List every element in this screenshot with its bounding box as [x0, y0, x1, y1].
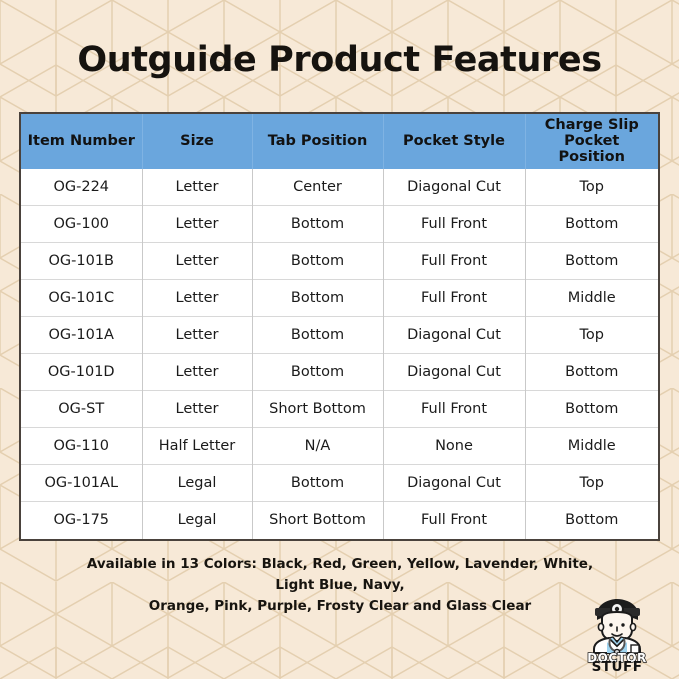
- column-header-line1: Tab Position: [268, 133, 368, 149]
- cell-tab-position: Short Bottom: [252, 502, 383, 539]
- table-row: OG-100 Letter Bottom Full Front Bottom: [21, 206, 658, 243]
- cell-size: Letter: [142, 354, 252, 391]
- cell-charge-slip-pocket-position: Top: [525, 169, 658, 206]
- cell-pocket-style: Full Front: [383, 391, 525, 428]
- table-row: OG-101B Letter Bottom Full Front Bottom: [21, 243, 658, 280]
- cell-tab-position: Short Bottom: [252, 391, 383, 428]
- cell-item-number: OG-101A: [21, 317, 142, 354]
- page-title: Outguide Product Features: [0, 40, 679, 80]
- cell-charge-slip-pocket-position: Bottom: [525, 243, 658, 280]
- colors-note-line-2: Orange, Pink, Purple, Frosty Clear and G…: [70, 596, 610, 617]
- cell-pocket-style: Full Front: [383, 280, 525, 317]
- doctor-stuff-logo: DOCTOR STUFF: [569, 597, 665, 671]
- table-row: OG-101D Letter Bottom Diagonal Cut Botto…: [21, 354, 658, 391]
- cell-item-number: OG-175: [21, 502, 142, 539]
- cell-size: Letter: [142, 169, 252, 206]
- cell-charge-slip-pocket-position: Bottom: [525, 391, 658, 428]
- cell-pocket-style: Full Front: [383, 206, 525, 243]
- cell-charge-slip-pocket-position: Bottom: [525, 206, 658, 243]
- table-row: OG-175 Legal Short Bottom Full Front Bot…: [21, 502, 658, 539]
- cell-pocket-style: Diagonal Cut: [383, 465, 525, 502]
- colors-note-line-1: Available in 13 Colors: Black, Red, Gree…: [70, 554, 610, 596]
- column-header-item-number: Item Number: [21, 114, 142, 169]
- table-row: OG-110 Half Letter N/A None Middle: [21, 428, 658, 465]
- logo-wordmark-bottom: STUFF: [592, 659, 643, 671]
- cell-charge-slip-pocket-position: Bottom: [525, 502, 658, 539]
- cell-tab-position: Bottom: [252, 243, 383, 280]
- cell-charge-slip-pocket-position: Middle: [525, 280, 658, 317]
- column-header-size: Size: [142, 114, 252, 169]
- cell-item-number: OG-101D: [21, 354, 142, 391]
- cell-pocket-style: Full Front: [383, 502, 525, 539]
- cell-size: Letter: [142, 243, 252, 280]
- cell-size: Letter: [142, 391, 252, 428]
- cell-tab-position: Center: [252, 169, 383, 206]
- cell-size: Legal: [142, 465, 252, 502]
- cell-item-number: OG-110: [21, 428, 142, 465]
- column-header-line1: Item Number: [28, 133, 135, 149]
- column-header-line1: Size: [180, 133, 214, 149]
- table-row: OG-ST Letter Short Bottom Full Front Bot…: [21, 391, 658, 428]
- cell-tab-position: Bottom: [252, 280, 383, 317]
- column-header-line1: Charge Slip: [545, 117, 639, 133]
- cell-pocket-style: Diagonal Cut: [383, 354, 525, 391]
- cell-tab-position: N/A: [252, 428, 383, 465]
- table-header: Item Number Size Tab Position Pocket Sty…: [21, 114, 658, 169]
- column-header-line2: Pocket Position: [559, 133, 625, 165]
- cell-tab-position: Bottom: [252, 206, 383, 243]
- colors-availability-note: Available in 13 Colors: Black, Red, Gree…: [70, 554, 610, 617]
- cell-charge-slip-pocket-position: Top: [525, 317, 658, 354]
- features-table-container: Item Number Size Tab Position Pocket Sty…: [19, 112, 660, 541]
- cell-size: Letter: [142, 280, 252, 317]
- cell-charge-slip-pocket-position: Middle: [525, 428, 658, 465]
- cell-item-number: OG-ST: [21, 391, 142, 428]
- cell-pocket-style: Full Front: [383, 243, 525, 280]
- table-row: OG-224 Letter Center Diagonal Cut Top: [21, 169, 658, 206]
- cell-item-number: OG-100: [21, 206, 142, 243]
- cell-pocket-style: None: [383, 428, 525, 465]
- column-header-charge-slip-pocket-position: Charge Slip Pocket Position: [525, 114, 658, 169]
- cell-size: Letter: [142, 206, 252, 243]
- cell-size: Legal: [142, 502, 252, 539]
- cell-size: Half Letter: [142, 428, 252, 465]
- outguide-features-table: Item Number Size Tab Position Pocket Sty…: [21, 114, 658, 539]
- table-row: OG-101AL Legal Bottom Diagonal Cut Top: [21, 465, 658, 502]
- cell-pocket-style: Diagonal Cut: [383, 169, 525, 206]
- cell-pocket-style: Diagonal Cut: [383, 317, 525, 354]
- cell-item-number: OG-101C: [21, 280, 142, 317]
- table-row: OG-101A Letter Bottom Diagonal Cut Top: [21, 317, 658, 354]
- cell-charge-slip-pocket-position: Top: [525, 465, 658, 502]
- table-body: OG-224 Letter Center Diagonal Cut Top OG…: [21, 169, 658, 539]
- cell-tab-position: Bottom: [252, 465, 383, 502]
- cell-item-number: OG-224: [21, 169, 142, 206]
- cell-size: Letter: [142, 317, 252, 354]
- infographic-page: Outguide Product Features Item Number Si…: [0, 0, 679, 679]
- cell-tab-position: Bottom: [252, 317, 383, 354]
- cell-item-number: OG-101AL: [21, 465, 142, 502]
- column-header-pocket-style: Pocket Style: [383, 114, 525, 169]
- column-header-tab-position: Tab Position: [252, 114, 383, 169]
- table-header-row: Item Number Size Tab Position Pocket Sty…: [21, 114, 658, 169]
- cell-item-number: OG-101B: [21, 243, 142, 280]
- table-row: OG-101C Letter Bottom Full Front Middle: [21, 280, 658, 317]
- doctor-character-icon: DOCTOR STUFF: [569, 597, 665, 671]
- cell-tab-position: Bottom: [252, 354, 383, 391]
- cell-charge-slip-pocket-position: Bottom: [525, 354, 658, 391]
- column-header-line1: Pocket Style: [403, 133, 505, 149]
